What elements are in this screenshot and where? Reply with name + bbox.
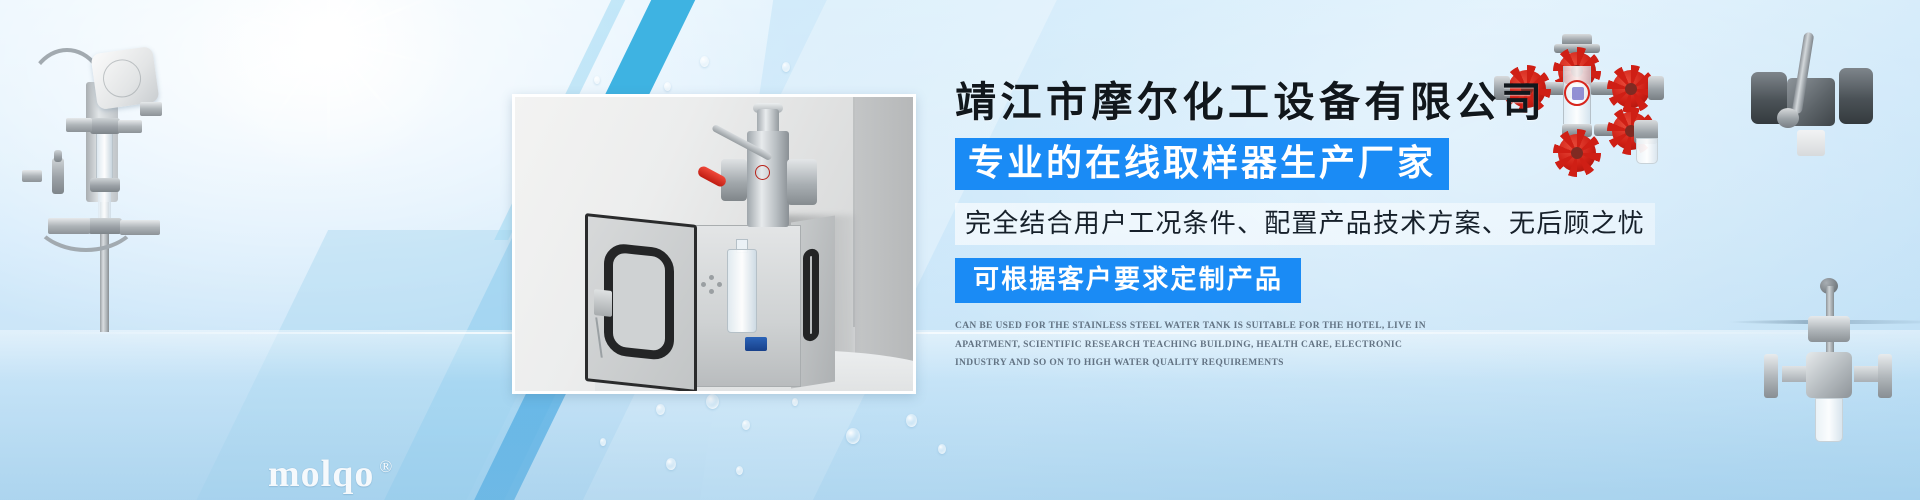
subline-text: 完全结合用户工况条件、配置产品技术方案、无后顾之忧: [955, 203, 1655, 245]
watermark-text: molqo: [268, 453, 374, 495]
registered-mark-icon: ®: [379, 457, 393, 476]
product-lever-sampling-valve: [1745, 38, 1895, 188]
brand-watermark: molqo®: [268, 452, 393, 496]
cabinet-port: [701, 275, 723, 295]
product-sampler-on-stand: [8, 22, 198, 322]
headline-badge: 专业的在线取样器生产厂家: [955, 138, 1449, 190]
english-description: CAN BE USED FOR THE STAINLESS STEEL WATE…: [955, 317, 1455, 373]
banner-text-block: 靖江市摩尔化工设备有限公司 专业的在线取样器生产厂家 完全结合用户工况条件、配置…: [955, 78, 1615, 373]
photo-sampling-valve: [715, 109, 825, 229]
company-name: 靖江市摩尔化工设备有限公司: [955, 78, 1615, 126]
sun-flare-icon: [178, 0, 478, 188]
product-photo-sampling-cabinet: [512, 94, 916, 394]
custom-product-badge: 可根据客户要求定制产品: [955, 258, 1301, 303]
product-inline-sampling-valve: [1770, 280, 1900, 460]
promotional-banner: 靖江市摩尔化工设备有限公司 专业的在线取样器生产厂家 完全结合用户工况条件、配置…: [0, 0, 1920, 500]
